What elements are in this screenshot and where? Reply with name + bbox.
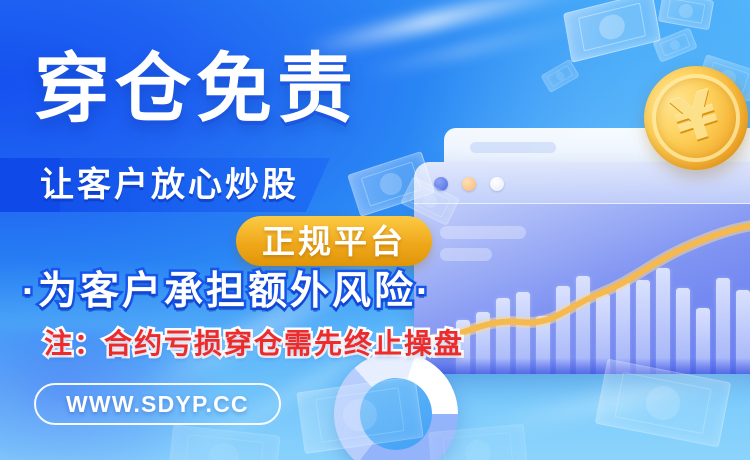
- subline-text: 让客户放心炒股: [40, 163, 299, 207]
- badge-label: 正规平台: [262, 225, 406, 258]
- page-title: 穿仓免责: [34, 52, 358, 128]
- promise-text: ·为客户承担额外风险·: [22, 272, 432, 311]
- status-badge: 正规平台: [236, 216, 432, 266]
- disclaimer-note: 注：合约亏损穿仓需先终止操盘: [44, 330, 464, 358]
- website-url-label: WWW.SDYP.CC: [66, 393, 249, 416]
- browser-window-illustration: [414, 162, 750, 374]
- orange-dot-icon: [462, 177, 476, 191]
- placeholder-bar: [470, 142, 556, 153]
- subline-banner: 让客户放心炒股: [0, 158, 430, 212]
- promo-banner: ¥ 穿仓免责 让客户放心炒股 正规平台 ·为客户承担额外风险· 注：合约亏损穿仓…: [0, 0, 750, 460]
- chart-area: [414, 190, 750, 374]
- browser-base-edge: [414, 358, 750, 374]
- white-dot-icon: [490, 177, 504, 191]
- website-url-pill[interactable]: WWW.SDYP.CC: [34, 383, 281, 425]
- trend-line-icon: [414, 190, 750, 374]
